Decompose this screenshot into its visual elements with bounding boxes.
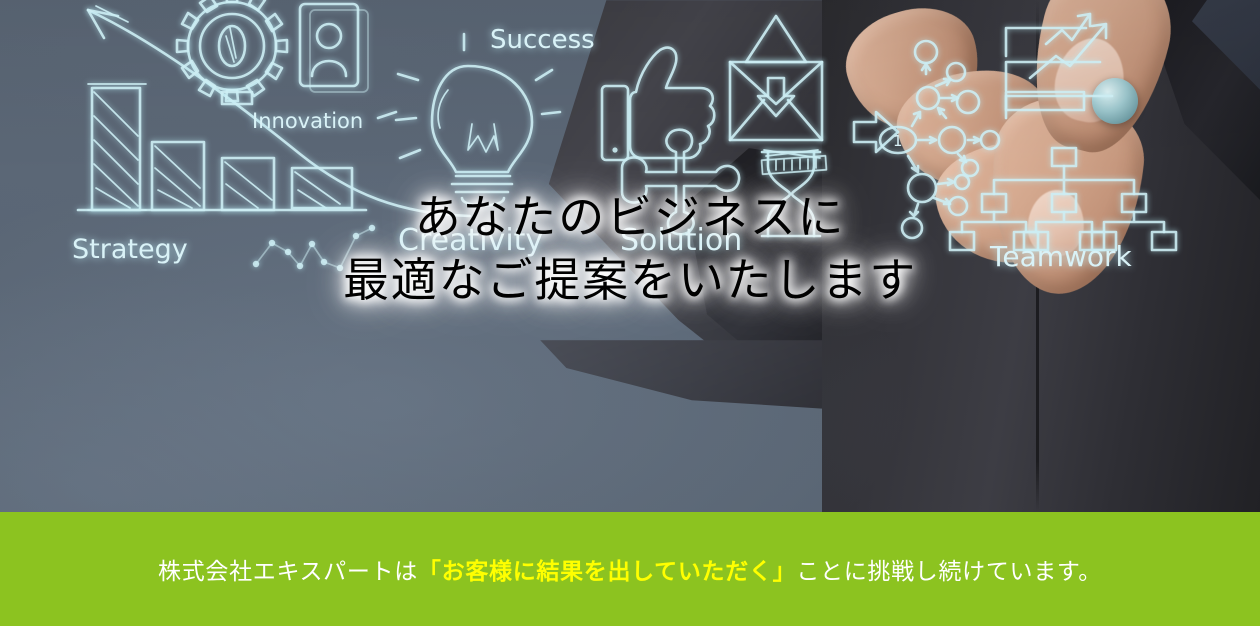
gear-icon (177, 0, 287, 101)
tagline-close-quote: 」 (773, 559, 797, 585)
tagline-open-quote: 「 (418, 559, 442, 585)
tagline-text: 株式会社エキスパートは「お客様に結果を出していただく」ことに挑戦し続けています。 (158, 552, 1102, 586)
gear-base-icon (222, 92, 252, 104)
id-card-icon (300, 4, 368, 92)
hero-headline-line-2: 最適なご提案をいたします (0, 249, 1260, 312)
tagline-suffix: ことに挑戦し続けています。 (796, 559, 1102, 585)
label-success: Success (490, 25, 595, 55)
marker-pen-tip (1092, 78, 1138, 124)
hero-headline-line-1: あなたのビジネスに (0, 186, 1260, 249)
lightbulb-icon (396, 66, 560, 206)
tagline-prefix: 株式会社エキスパートは (158, 559, 418, 585)
hero-headline: あなたのビジネスに 最適なご提案をいたします (0, 186, 1260, 313)
hero-banner: Strategy (0, 0, 1260, 512)
innovation-dash-icon (378, 112, 396, 118)
curved-arrow-icon (88, 6, 470, 216)
tagline-banner: 株式会社エキスパートは「お客様に結果を出していただく」ことに挑戦し続けています。 (0, 512, 1260, 626)
label-innovation: Innovation (252, 109, 363, 133)
hero-page: Strategy (0, 0, 1260, 626)
tagline-highlight: お客様に結果を出していただく (442, 559, 773, 585)
businessman-cuff (540, 340, 870, 410)
